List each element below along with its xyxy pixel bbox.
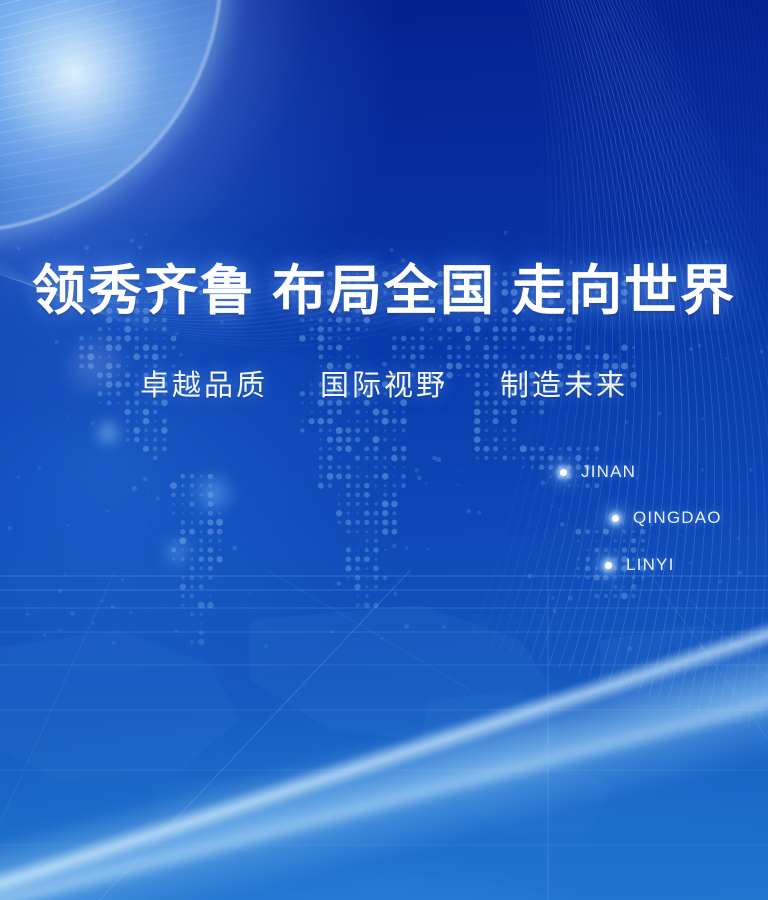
city-dot-marker-icon — [612, 515, 619, 522]
headline-part-3: 走向世界 — [512, 261, 736, 321]
perspective-grid — [0, 570, 768, 900]
subline-part-1: 卓越品质 — [140, 370, 268, 402]
bokeh-light-2 — [190, 470, 236, 516]
page-title: 领秀齐鲁布局全国走向世界 — [0, 264, 768, 318]
promo-banner: 领秀齐鲁布局全国走向世界 卓越品质国际视野制造未来 JINAN QINGDAO … — [0, 0, 768, 900]
city-dot-marker-icon — [605, 562, 612, 569]
city-marker-jinan: JINAN — [560, 462, 636, 482]
city-label-linyi: LINYI — [626, 555, 675, 575]
city-marker-linyi: LINYI — [605, 555, 675, 575]
city-dot-marker-icon — [560, 469, 567, 476]
page-subtitle: 卓越品质国际视野制造未来 — [0, 372, 768, 401]
city-marker-qingdao: QINGDAO — [612, 508, 722, 528]
subline-part-3: 制造未来 — [500, 370, 628, 402]
diagonal-light-beam-core — [0, 607, 768, 900]
city-label-jinan: JINAN — [581, 462, 636, 482]
subline-part-2: 国际视野 — [320, 370, 448, 402]
headline-part-1: 领秀齐鲁 — [32, 261, 256, 321]
bokeh-light-3 — [160, 535, 194, 569]
headline-part-2: 布局全国 — [272, 261, 496, 321]
diagonal-light-beam — [0, 576, 768, 900]
bokeh-light-1 — [95, 420, 121, 446]
city-label-qingdao: QINGDAO — [633, 508, 722, 528]
